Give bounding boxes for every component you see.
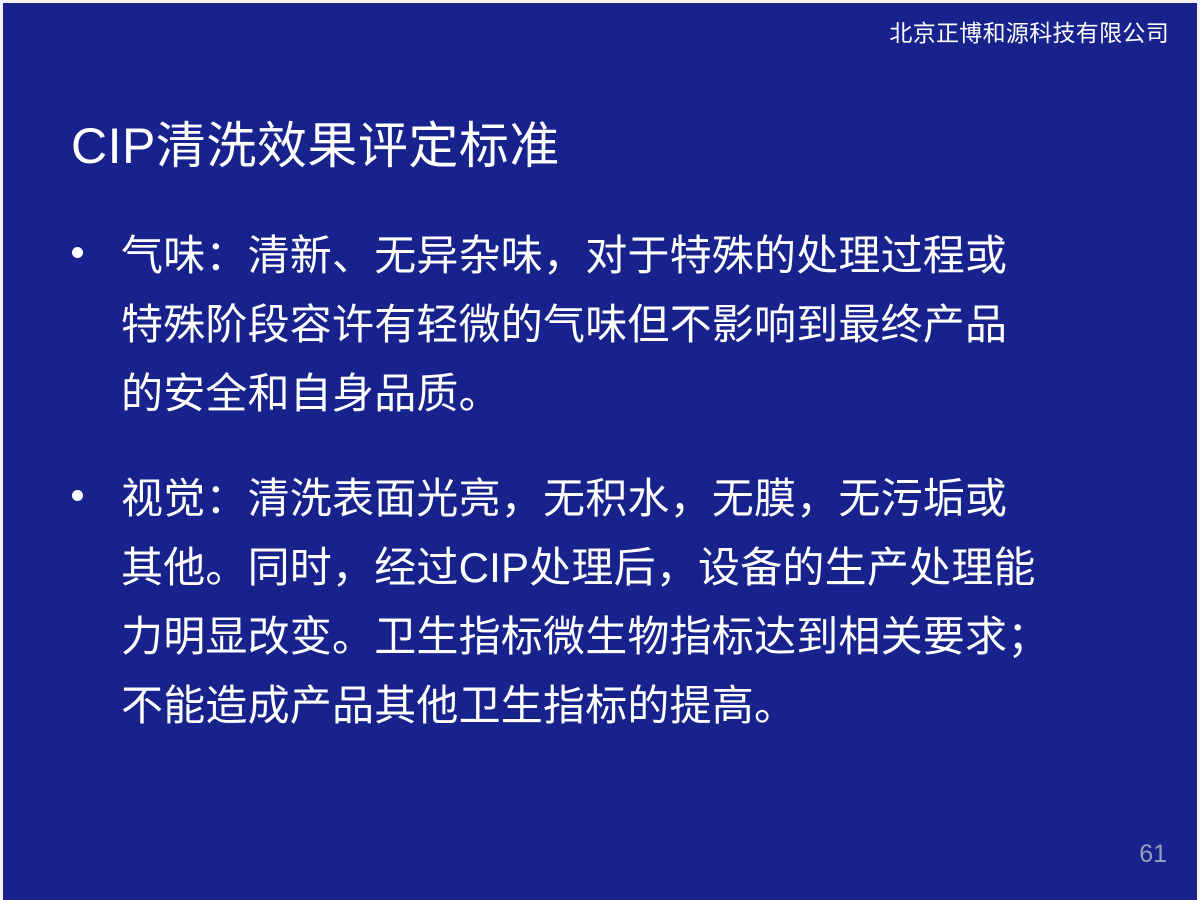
list-item-text: 气味：清新、无异杂味，对于特殊的处理过程或 特殊阶段容许有轻微的气味但不影响到最… xyxy=(121,221,1157,428)
text-line: 的安全和自身品质。 xyxy=(121,359,1157,428)
bullet-dot-icon xyxy=(72,247,83,258)
list-item: 气味：清新、无异杂味，对于特殊的处理过程或 特殊阶段容许有轻微的气味但不影响到最… xyxy=(61,221,1157,428)
company-name-header: 北京正博和源科技有限公司 xyxy=(889,19,1169,47)
presentation-slide: 北京正博和源科技有限公司 CIP清洗效果评定标准 气味：清新、无异杂味，对于特殊… xyxy=(0,0,1200,900)
text-line: 气味：清新、无异杂味，对于特殊的处理过程或 xyxy=(121,221,1157,290)
text-line: 力明显改变。卫生指标微生物指标达到相关要求； xyxy=(121,602,1157,671)
page-title: CIP清洗效果评定标准 xyxy=(71,115,560,177)
text-line: 其他。同时，经过CIP处理后，设备的生产处理能 xyxy=(121,533,1157,602)
text-line: 不能造成产品其他卫生指标的提高。 xyxy=(121,671,1157,740)
text-line: 视觉：清洗表面光亮，无积水，无膜，无污垢或 xyxy=(121,464,1157,533)
text-line: 特殊阶段容许有轻微的气味但不影响到最终产品 xyxy=(121,290,1157,359)
list-item-text: 视觉：清洗表面光亮，无积水，无膜，无污垢或 其他。同时，经过CIP处理后，设备的… xyxy=(121,464,1157,740)
page-number: 61 xyxy=(1139,840,1167,868)
list-item: 视觉：清洗表面光亮，无积水，无膜，无污垢或 其他。同时，经过CIP处理后，设备的… xyxy=(61,464,1157,740)
bullet-list: 气味：清新、无异杂味，对于特殊的处理过程或 特殊阶段容许有轻微的气味但不影响到最… xyxy=(61,221,1157,740)
bullet-dot-icon xyxy=(72,490,83,501)
